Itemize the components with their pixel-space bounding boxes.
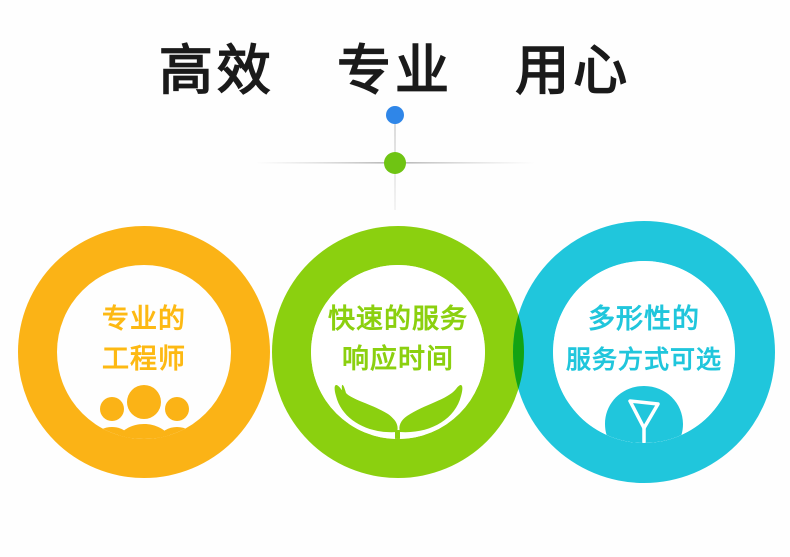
ring-label-orange-line-2: 工程师 xyxy=(19,340,269,380)
poster-canvas: 高效 专业 用心 xyxy=(0,0,790,557)
ring-label-green: 快速的服务 响应时间 xyxy=(272,300,524,380)
ring-label-blue: 多形性的 服务方式可选 xyxy=(512,300,776,380)
ring-label-blue-line-2: 服务方式可选 xyxy=(512,340,776,380)
ring-label-orange-line-1: 专业的 xyxy=(19,300,269,340)
ring-label-green-line-2: 响应时间 xyxy=(272,340,524,380)
venn-rings-group xyxy=(0,0,790,557)
ring-label-green-line-1: 快速的服务 xyxy=(272,300,524,340)
ring-label-blue-line-1: 多形性的 xyxy=(512,300,776,340)
ring-label-orange: 专业的 工程师 xyxy=(19,300,269,380)
